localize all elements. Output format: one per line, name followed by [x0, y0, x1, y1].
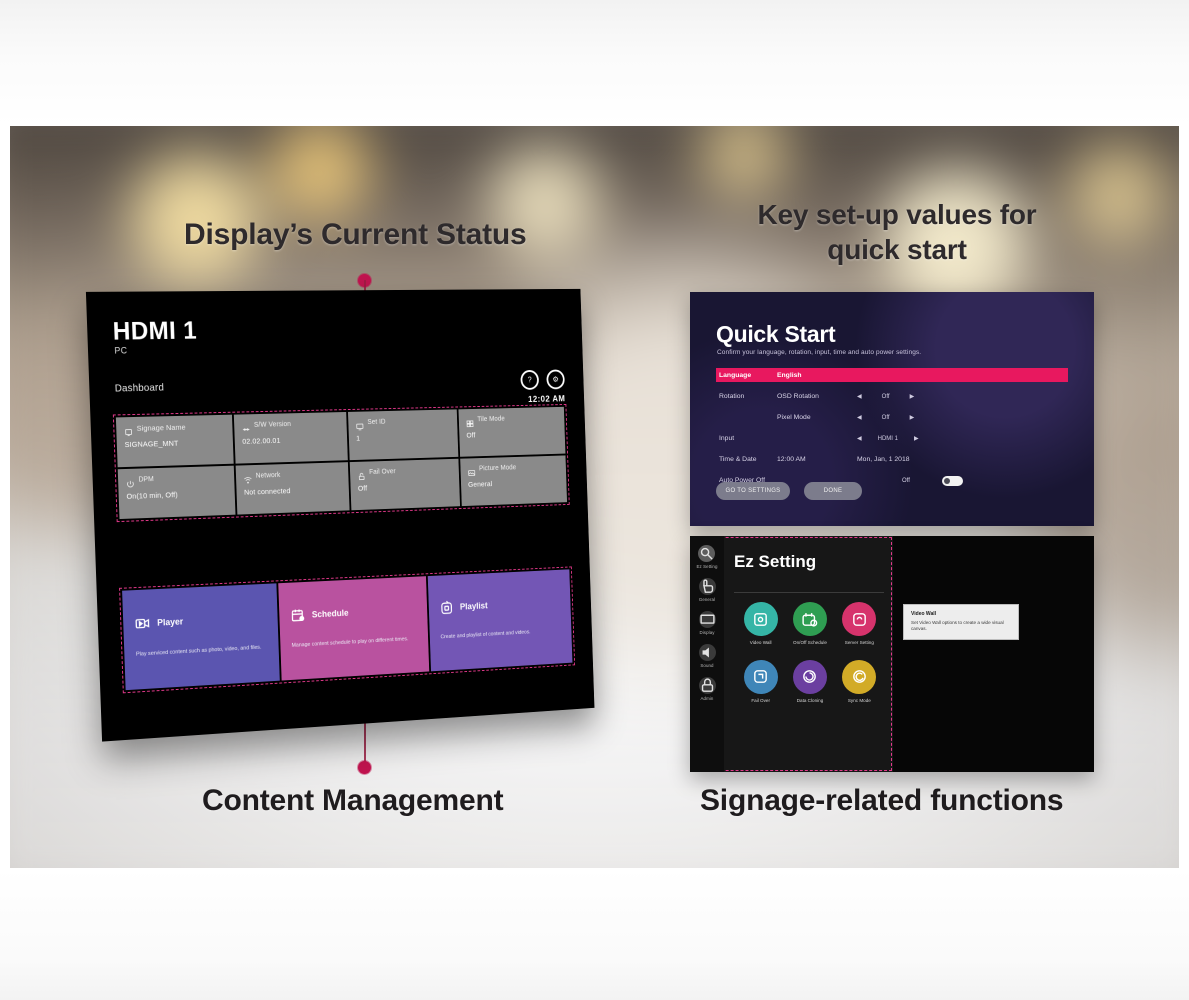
page-top-margin [0, 0, 1189, 126]
row-label: Input [716, 435, 777, 442]
tile-label: Signage Name [137, 423, 186, 433]
ez-item-label: Server Setting [845, 640, 874, 646]
row-value: English [777, 372, 857, 379]
ez-item-on-off-schedule[interactable]: On/Off Schedule [785, 602, 834, 646]
video-wall-icon [744, 602, 778, 636]
input-source-subtitle: PC [114, 345, 127, 355]
server-setting-icon [842, 602, 876, 636]
ez-setting-title: Ez Setting [734, 552, 816, 572]
dashboard-label: Dashboard [115, 383, 165, 395]
dashboard-tile-tile-mode[interactable]: Tile ModeOff [458, 407, 565, 457]
card-description: Play serviced content such as photo, vid… [136, 644, 268, 659]
sidebar-item-general[interactable]: General [699, 578, 716, 602]
content-card-player[interactable]: PlayerPlay serviced content such as phot… [122, 583, 280, 690]
fail-over-icon [744, 660, 778, 694]
caption-content-management: Content Management [202, 784, 503, 818]
ez-item-label: Fail Over [751, 698, 770, 704]
general-icon [699, 578, 716, 595]
tile-icon [466, 416, 474, 425]
input-source-title: HDMI 1 [112, 317, 197, 347]
display-icon [699, 611, 716, 628]
quick-start-buttons: GO TO SETTINGSDONE [716, 482, 862, 500]
stepper-prev-icon[interactable]: ◀ [857, 393, 862, 400]
stepper-value: Off [878, 394, 894, 400]
sidebar-item-label: General [699, 597, 715, 602]
tile-label: Fail Over [369, 468, 396, 476]
tile-value: 1 [356, 431, 451, 442]
chip-icon [242, 421, 251, 430]
auto-power-off-toggle[interactable] [942, 476, 963, 486]
schedule-icon [290, 607, 305, 623]
row-stepper[interactable]: ◀Off▶ [857, 393, 914, 400]
tile-value: On(10 min, Off) [126, 488, 227, 500]
row-value: OSD Rotation [777, 393, 857, 400]
signage-display-mockup: HDMI 1 PC Dashboard ? ⚙ 12:02 AM Signage… [94, 292, 634, 742]
monitor-icon [356, 418, 364, 427]
playlist-icon [439, 600, 454, 616]
sidebar-item-label: Sound [700, 663, 713, 668]
dashboard-tile-dpm[interactable]: DPMOn(10 min, Off) [118, 466, 236, 519]
failover-icon [357, 468, 365, 477]
ez-setting-sidebar: Ez SettingGeneralDisplaySoundAdmin [690, 536, 724, 772]
ez-setting-panel: Ez SettingGeneralDisplaySoundAdmin Ez Se… [690, 536, 1094, 772]
caption-key-setup: Key set-up values for quick start [757, 197, 1037, 268]
ez-item-fail-over[interactable]: Fail Over [736, 660, 785, 704]
tile-value: Off [466, 429, 558, 440]
picture-icon [467, 465, 475, 474]
stepper-next-icon[interactable]: ▶ [910, 393, 915, 400]
row-stepper[interactable]: ◀HDMI 1▶ [857, 435, 919, 442]
power-icon [126, 476, 135, 485]
player-icon [135, 615, 151, 632]
sidebar-item-label: Ez Setting [696, 564, 717, 569]
go-to-settings-button[interactable]: GO TO SETTINGS [716, 482, 790, 500]
quick-start-row-pixel-mode[interactable]: Pixel Mode◀Off▶ [716, 407, 1068, 428]
content-management-row: PlayerPlay serviced content such as phot… [122, 569, 572, 690]
connector-dot-bottom [358, 761, 371, 774]
sidebar-item-label: Admin [701, 696, 714, 701]
ez-item-server-setting[interactable]: Server Setting [835, 602, 884, 646]
stepper-value: Off [878, 415, 894, 421]
tv-bezel: HDMI 1 PC Dashboard ? ⚙ 12:02 AM Signage… [86, 289, 595, 742]
ez-setting-icon-grid: Video WallOn/Off ScheduleServer SettingF… [736, 602, 884, 703]
tile-label: Tile Mode [477, 416, 505, 423]
stepper-prev-icon[interactable]: ◀ [857, 435, 862, 442]
ez-setting-icon [698, 545, 715, 562]
tile-value: 02.02.00.01 [242, 434, 340, 445]
stepper-prev-icon[interactable]: ◀ [857, 414, 862, 421]
ez-item-label: Sync Mode [848, 698, 871, 704]
tile-value: SIGNAGE_MNT [124, 437, 225, 449]
stepper-next-icon[interactable]: ▶ [910, 414, 915, 421]
tooltip-description: Set Video Wall options to create a wide … [911, 620, 1011, 633]
help-icon[interactable]: ? [520, 370, 539, 390]
ez-setting-tooltip: Video Wall Set Video Wall options to cre… [903, 604, 1019, 640]
tv-screen: HDMI 1 PC Dashboard ? ⚙ 12:02 AM Signage… [86, 289, 595, 742]
done-button[interactable]: DONE [804, 482, 862, 500]
ez-item-label: Data Cloning [797, 698, 824, 704]
ez-item-label: Video Wall [750, 640, 772, 646]
ez-item-label: On/Off Schedule [793, 640, 827, 646]
tile-label: S/W Version [254, 421, 291, 429]
sidebar-item-label: Display [699, 630, 714, 635]
dashboard-tile-fail-over[interactable]: Fail OverOff [350, 459, 460, 511]
tile-label: Set ID [367, 419, 385, 426]
sidebar-item-sound[interactable]: Sound [699, 644, 716, 668]
quick-start-panel: Quick Start Confirm your language, rotat… [690, 292, 1094, 526]
caption-display-status: Display’s Current Status [184, 218, 527, 252]
ez-item-video-wall[interactable]: Video Wall [736, 602, 785, 646]
tile-value: General [468, 477, 560, 489]
toggle-state-label: Off [902, 478, 910, 484]
tile-value: Off [358, 481, 453, 493]
tile-value: Not connected [244, 485, 342, 497]
sync-mode-icon [842, 660, 876, 694]
sidebar-item-admin[interactable]: Admin [699, 677, 716, 701]
clock-display: 12:02 AM [528, 394, 566, 404]
quick-start-subtitle: Confirm your language, rotation, input, … [717, 349, 921, 356]
card-description: Create and playlist of content and video… [440, 628, 561, 642]
ez-setting-divider [734, 592, 884, 593]
tooltip-title: Video Wall [911, 611, 1011, 617]
dashboard-tile-network[interactable]: NetworkNot connected [236, 462, 350, 514]
ez-item-sync-mode[interactable]: Sync Mode [835, 660, 884, 704]
page-bottom-margin [0, 868, 1189, 1000]
tile-label: Network [256, 472, 281, 480]
row-value: Pixel Mode [777, 414, 857, 421]
ez-item-data-cloning[interactable]: Data Cloning [785, 660, 834, 704]
dashboard-tile-picture-mode[interactable]: Picture ModeGeneral [460, 455, 567, 506]
content-card-playlist[interactable]: PlaylistCreate and playlist of content a… [428, 569, 573, 671]
dashboard-tile-signage-name[interactable]: Signage NameSIGNAGE_MNT [116, 415, 234, 468]
card-title: Schedule [312, 608, 349, 620]
onoff-schedule-icon [793, 602, 827, 636]
dashboard-tile-grid: Signage NameSIGNAGE_MNTS/W Version02.02.… [116, 407, 567, 519]
quick-start-row-rotation[interactable]: RotationOSD Rotation◀Off▶ [716, 386, 1068, 407]
caption-signage-functions: Signage-related functions [700, 784, 1063, 818]
sidebar-item-ez-setting[interactable]: Ez Setting [696, 545, 717, 569]
dashboard-tile-set-id[interactable]: Set ID1 [348, 409, 458, 460]
wifi-icon [243, 472, 252, 481]
card-title: Playlist [460, 601, 488, 612]
row-value: 12:00 AM [777, 456, 857, 463]
ez-setting-content-area: Ez SettingGeneralDisplaySoundAdmin Ez Se… [690, 536, 893, 772]
settings-icon[interactable]: ⚙ [546, 369, 565, 389]
quick-start-row-input[interactable]: Input◀HDMI 1▶ [716, 428, 1068, 449]
tile-label: Picture Mode [479, 464, 516, 472]
quick-start-rows: LanguageEnglishRotationOSD Rotation◀Off▶… [716, 368, 1068, 491]
quick-start-row-language[interactable]: LanguageEnglish [716, 368, 1068, 382]
row-date: Mon, Jan, 1 2018 [857, 456, 910, 463]
sound-icon [699, 644, 716, 661]
row-label: Time & Date [716, 456, 777, 463]
admin-icon [699, 677, 716, 694]
row-stepper[interactable]: ◀Off▶ [857, 414, 914, 421]
card-title: Player [157, 616, 183, 627]
data-cloning-icon [793, 660, 827, 694]
signage-icon [124, 424, 133, 433]
dashboard-header-icons: ? ⚙ [520, 369, 565, 390]
stepper-value: HDMI 1 [878, 436, 898, 442]
card-description: Manage content schedule to play on diffe… [292, 636, 418, 650]
stepper-next-icon[interactable]: ▶ [914, 435, 919, 442]
row-label: Rotation [716, 393, 777, 400]
dashboard-tile-s-w-version[interactable]: S/W Version02.02.00.01 [234, 412, 348, 464]
quick-start-title: Quick Start [716, 321, 835, 348]
content-card-schedule[interactable]: ScheduleManage content schedule to play … [278, 576, 429, 680]
tile-label: DPM [138, 476, 154, 483]
sidebar-item-display[interactable]: Display [699, 611, 716, 635]
row-label: Language [716, 372, 777, 379]
quick-start-row-time-date[interactable]: Time & Date12:00 AMMon, Jan, 1 2018 [716, 449, 1068, 470]
